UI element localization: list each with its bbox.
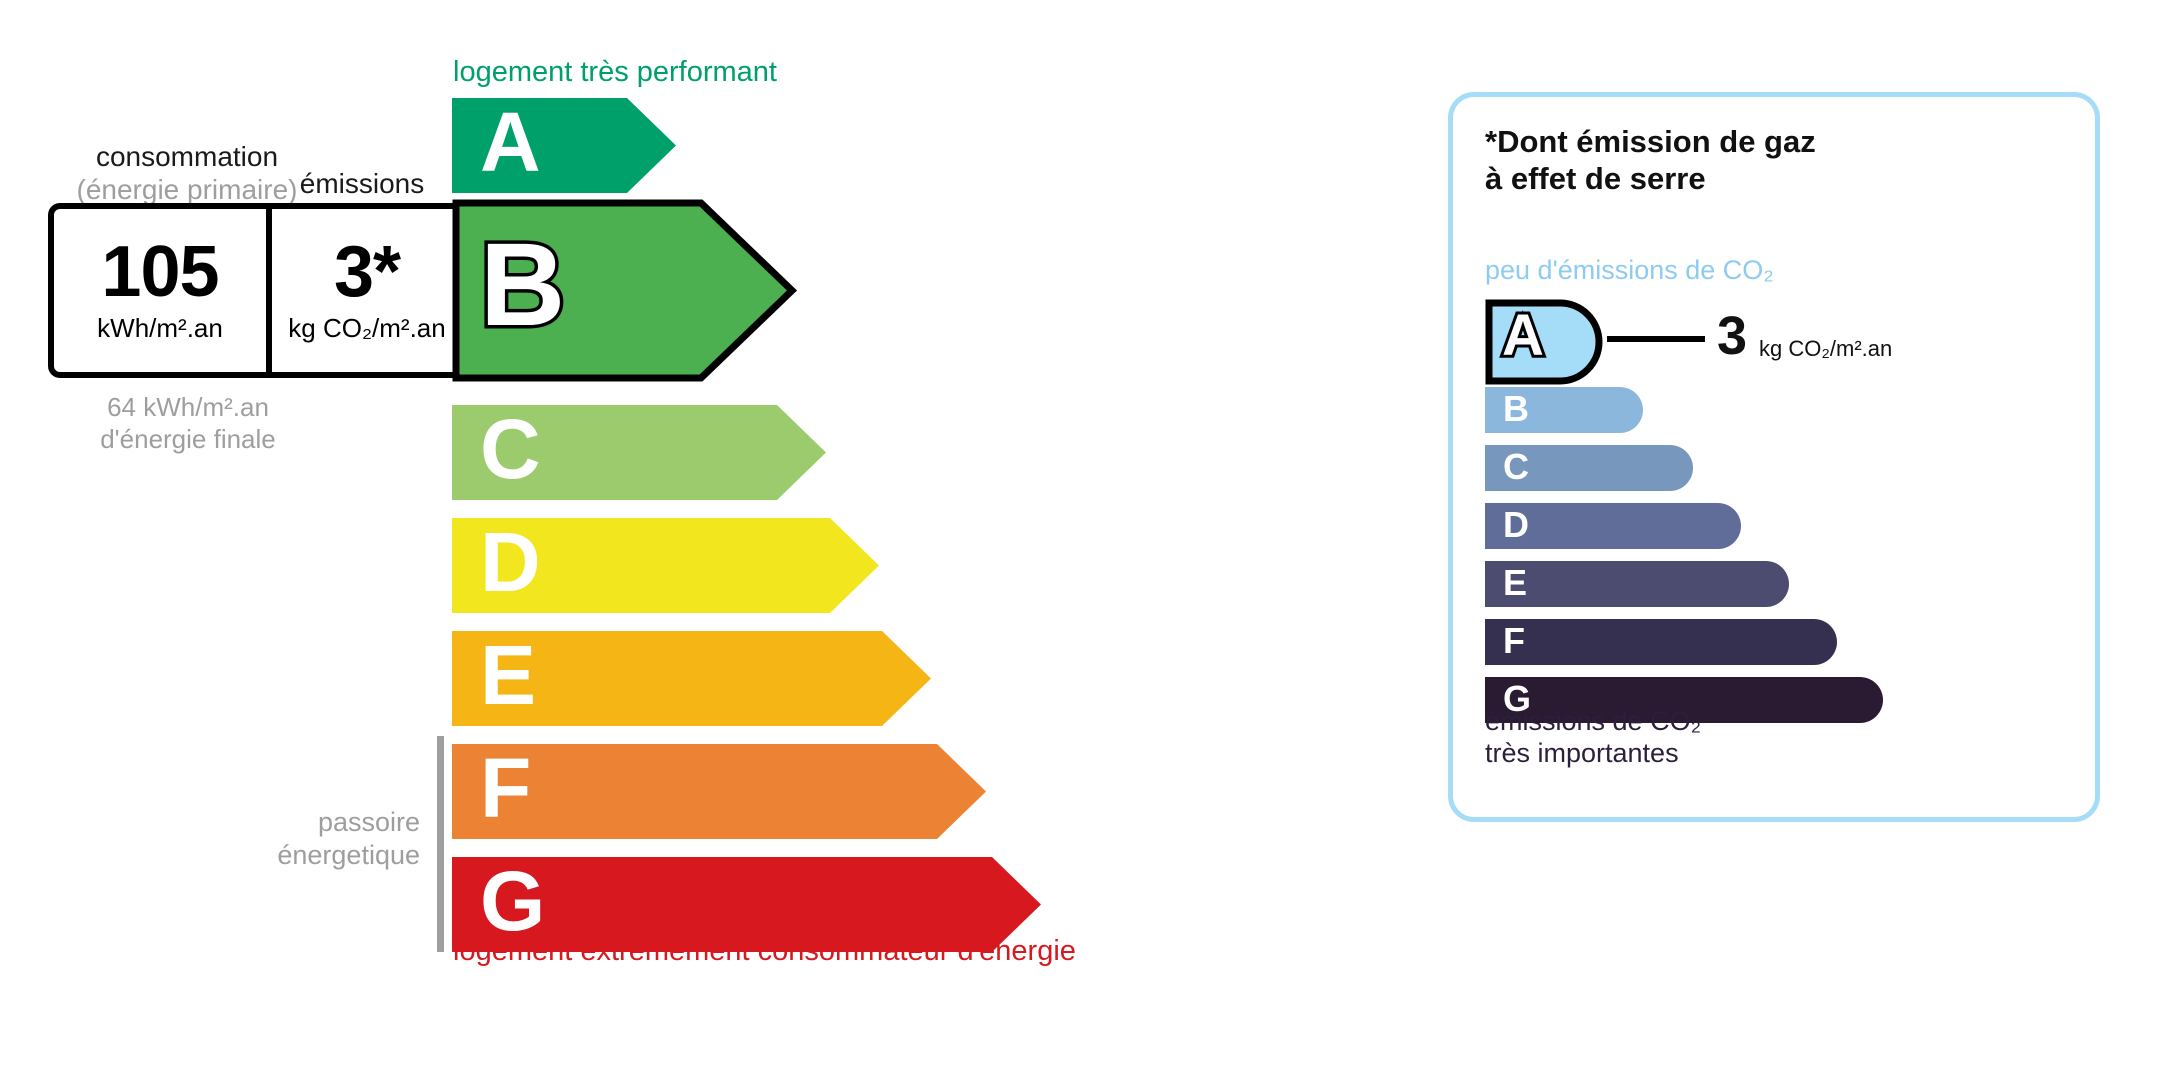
co2-bar-letter-b: B [1503,391,1529,427]
energy-band-letter-b: B [480,226,565,344]
co2-value-unit: kg CO₂/m².an [1759,336,1892,362]
final-energy-value: 64 kWh/m².an [58,392,318,424]
energy-band-letter-a: A [480,100,541,184]
co2-bar-letter-d: D [1503,507,1529,543]
passoire-label: passoire énergetique [230,806,420,872]
energy-band-letter-e: E [480,633,536,717]
co2-bar-letter-e: E [1503,565,1527,601]
co2-selected-row: A 3 kg CO₂/m².an [1485,299,2085,377]
dpe-label-root: consommation (énergie primaire) émission… [0,0,2169,1079]
co2-bar-letter-c: C [1503,449,1529,485]
energy-band-list: ABCDEFG [452,0,1252,1079]
energy-band-f: F [452,744,986,839]
co2-bar-e: E [1485,561,1789,607]
emission-value: 3* [334,237,400,308]
consumption-value-cell: 105 kWh/m².an [54,209,266,372]
co2-bar-f: F [1485,619,1837,665]
energy-band-e: E [452,631,931,726]
co2-title-line2: à effet de serre [1485,161,1816,198]
final-energy-note: 64 kWh/m².an d'énergie finale [58,392,318,455]
co2-bar-a-letter: A [1502,307,1544,365]
energy-band-a: A [452,98,676,193]
energy-band-d: D [452,518,879,613]
co2-title-line1: *Dont émission de gaz [1485,124,1816,161]
energy-band-letter-c: C [480,407,541,491]
emission-value-cell: 3* kg CO₂/m².an [266,209,462,372]
emissions-header: émissions [292,168,432,200]
passoire-bracket [437,736,444,952]
passoire-line2: énergetique [230,839,420,872]
co2-bar-d: D [1485,503,1741,549]
energy-band-c: C [452,405,826,500]
consumption-header-sub: (énergie primaire) [62,173,312,206]
co2-bar-letter-f: F [1503,623,1525,659]
consumption-unit: kWh/m².an [97,313,223,344]
co2-bar-b: B [1485,387,1643,433]
energy-band-letter-g: G [480,859,545,943]
energy-band-g: G [452,857,1041,952]
co2-top-caption: peu d'émissions de CO₂ [1485,255,1774,286]
co2-panel-title: *Dont émission de gaz à effet de serre [1485,124,1816,197]
co2-connector-line [1607,336,1705,342]
co2-panel: *Dont émission de gaz à effet de serre p… [1448,92,2100,822]
co2-bottom-caption: émissions de CO₂ très importantes [1485,705,1701,770]
passoire-line1: passoire [230,806,420,839]
energy-performance-label: consommation (énergie primaire) émission… [0,0,1320,1079]
consumption-value: 105 [101,237,218,308]
emission-unit: kg CO₂/m².an [288,313,445,344]
energy-band-letter-d: D [480,520,541,604]
co2-bottom-line2: très importantes [1485,737,1701,769]
energy-band-letter-f: F [480,746,531,830]
value-box: 105 kWh/m².an 3* kg CO₂/m².an [48,203,468,378]
consumption-header-main: consommation [62,140,312,173]
final-energy-label: d'énergie finale [58,424,318,456]
co2-bottom-line1: émissions de CO₂ [1485,705,1701,737]
consumption-header: consommation (énergie primaire) [62,140,312,206]
co2-value: 3 [1717,309,1747,363]
energy-band-b: B [452,199,796,382]
co2-bar-c: C [1485,445,1693,491]
